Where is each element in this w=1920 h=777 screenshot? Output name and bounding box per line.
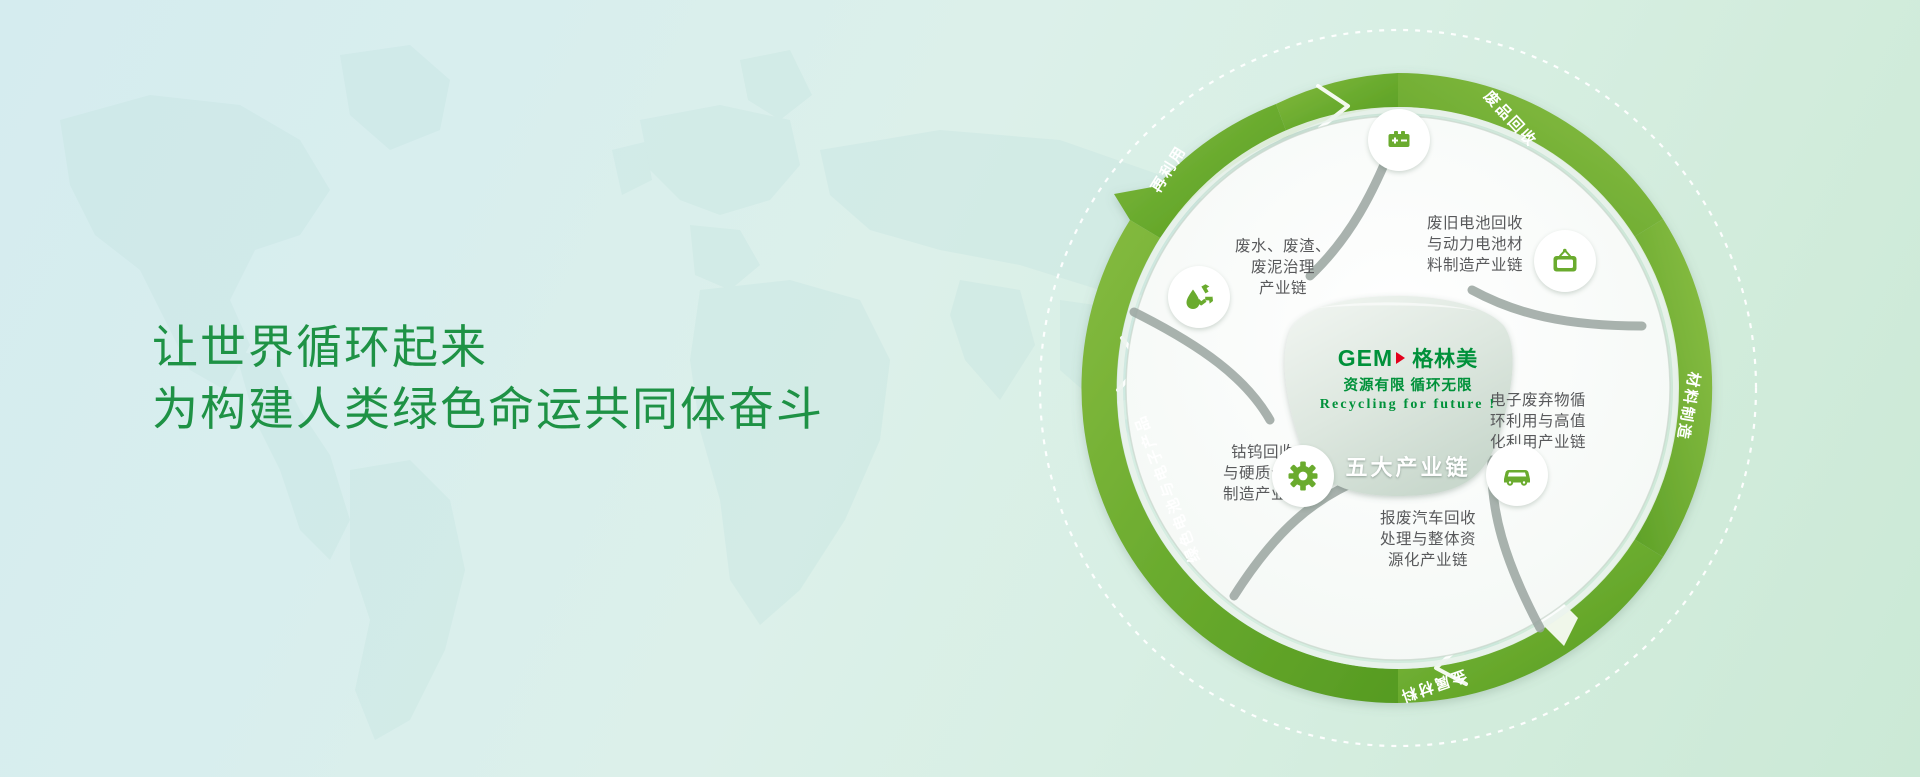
five-industry-chain-diagram: 废水、废渣、 废泥治理 产业链 废旧电池回收 与动力电池材 料制造产业链 电子废…	[1018, 8, 1778, 768]
car-icon	[1486, 444, 1548, 506]
chain-label-vehicle: 报废汽车回收 处理与整体资 源化产业链	[1343, 508, 1513, 571]
gem-logo: GEM 格林美 资源有限 循环无限 Recycling for future !	[1318, 345, 1498, 413]
gem-slogan-cn: 资源有限 循环无限	[1318, 374, 1498, 395]
headline-block: 让世界循环起来 为构建人类绿色命运共同体奋斗	[152, 316, 912, 440]
center-title: 五大产业链	[1318, 450, 1498, 482]
gear-icon	[1272, 445, 1334, 507]
gem-chinese-name: 格林美	[1412, 343, 1478, 373]
television-icon	[1534, 230, 1596, 292]
gem-logo-row: GEM 格林美	[1318, 345, 1498, 371]
gem-triangle-icon	[1396, 352, 1405, 364]
headline-line-2: 为构建人类绿色命运共同体奋斗	[152, 378, 912, 440]
gem-slogan-en: Recycling for future !	[1318, 397, 1498, 413]
headline-line-1: 让世界循环起来	[152, 316, 912, 378]
recycle-droplet-icon	[1168, 266, 1230, 328]
battery-icon	[1368, 109, 1430, 171]
hero-banner: 让世界循环起来 为构建人类绿色命运共同体奋斗	[0, 0, 1920, 777]
gem-wordmark: GEM	[1338, 346, 1393, 370]
